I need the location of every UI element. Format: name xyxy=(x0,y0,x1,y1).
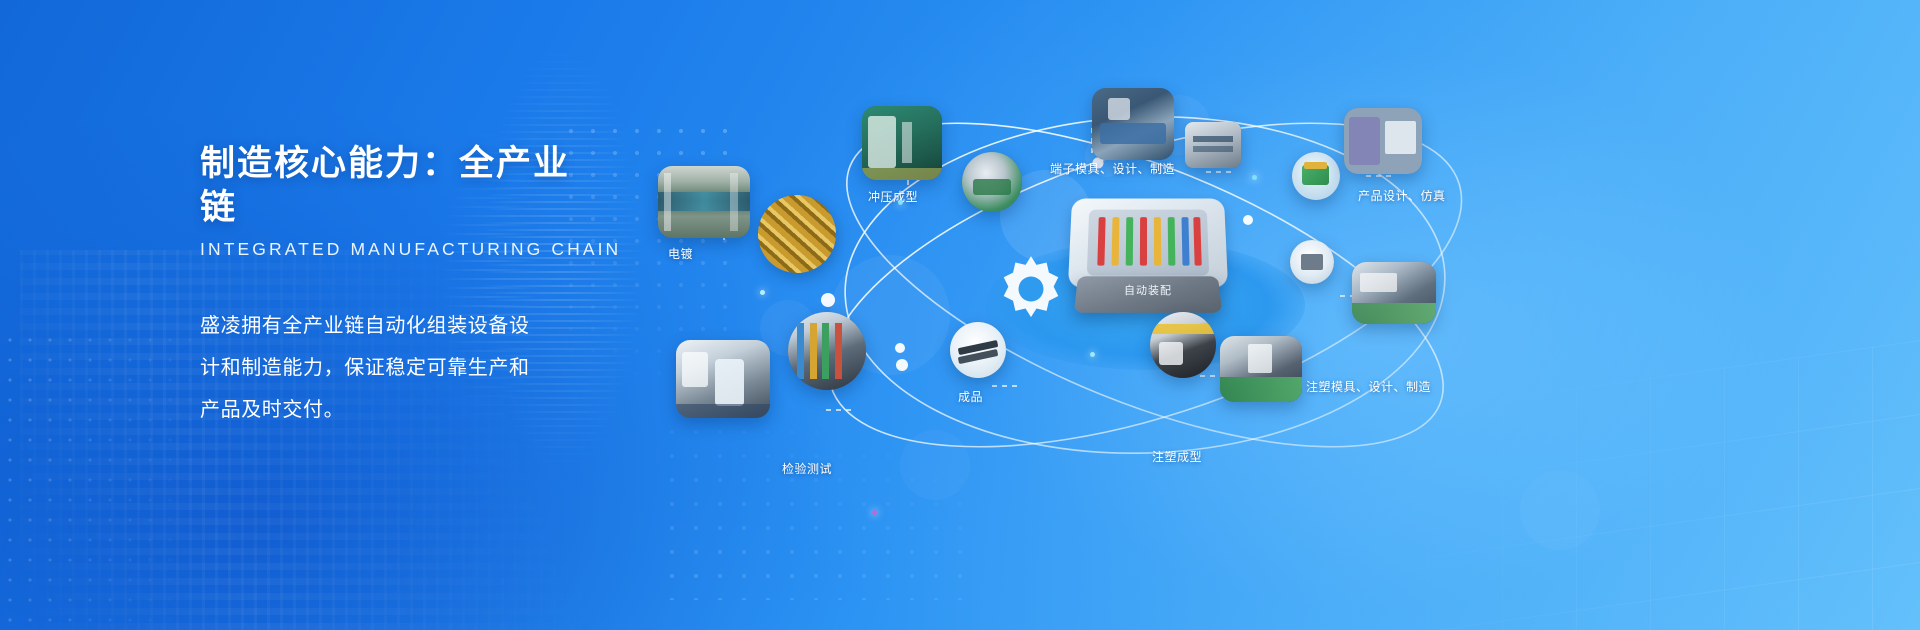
page-subtitle: INTEGRATED MANUFACTURING CHAIN xyxy=(200,239,580,260)
node-injection-forming-label: 注塑成型 xyxy=(1152,448,1202,465)
description-line-2: 计和制造能力，保证稳定可靠生产和 xyxy=(200,347,580,389)
hero-banner: 制造核心能力：全产业链 INTEGRATED MANUFACTURING CHA… xyxy=(0,0,1920,630)
mold-tooling-photo[interactable] xyxy=(1185,122,1241,168)
machine-interior xyxy=(1087,210,1209,276)
hero-description: 盛凌拥有全产业链自动化组装设备设 计和制造能力，保证稳定可靠生产和 产品及时交付… xyxy=(200,305,580,431)
manufacturing-chain-diagram: 自动装配 电镀 冲压成型 xyxy=(640,0,1920,630)
spark-dot xyxy=(898,200,903,205)
node-inspection-label: 检验测试 xyxy=(782,460,832,477)
description-line-1: 盛凌拥有全产业链自动化组装设备设 xyxy=(200,305,580,347)
node-product-design-label: 产品设计、仿真 xyxy=(1358,187,1446,204)
node-injection-mold-label: 注塑模具、设计、制造 xyxy=(1306,378,1431,395)
dot-pattern-left xyxy=(0,330,230,630)
pcb-closeup-photo[interactable] xyxy=(962,152,1022,212)
spark-dot xyxy=(1090,352,1095,357)
injection-machine-photo[interactable] xyxy=(1150,312,1216,378)
inspection-lab-photo[interactable] xyxy=(676,340,770,418)
hub-label: 自动装配 xyxy=(1058,282,1238,298)
mold-part-icon[interactable] xyxy=(1290,240,1334,284)
terminal-mold-photo[interactable] xyxy=(1092,88,1174,160)
automatic-assembly-machine: 自动装配 xyxy=(1058,196,1238,326)
hero-copy: 制造核心能力：全产业链 INTEGRATED MANUFACTURING CHA… xyxy=(200,142,580,431)
description-line-3: 产品及时交付。 xyxy=(200,389,580,431)
connector-product-photo[interactable] xyxy=(950,322,1006,378)
factory-line-photo[interactable] xyxy=(658,166,750,238)
node-plating-label: 电镀 xyxy=(668,245,693,262)
injection-mold-photo[interactable] xyxy=(1352,262,1436,324)
stamping-machine-photo[interactable] xyxy=(862,106,942,180)
spark-dot xyxy=(872,510,877,515)
node-stamping-label: 冲压成型 xyxy=(868,188,918,205)
spark-dot xyxy=(760,290,765,295)
spark-dot xyxy=(1252,175,1257,180)
page-title: 制造核心能力：全产业链 xyxy=(200,142,580,230)
node-terminal-mold-label: 端子模具、设计、制造 xyxy=(1050,160,1175,177)
cad-design-photo[interactable] xyxy=(1344,108,1422,174)
node-finished-product-label: 成品 xyxy=(958,388,983,405)
cad-model-icon[interactable] xyxy=(1292,152,1340,200)
assembly-line-photo[interactable] xyxy=(1220,336,1302,402)
test-rack-photo[interactable] xyxy=(788,312,866,390)
